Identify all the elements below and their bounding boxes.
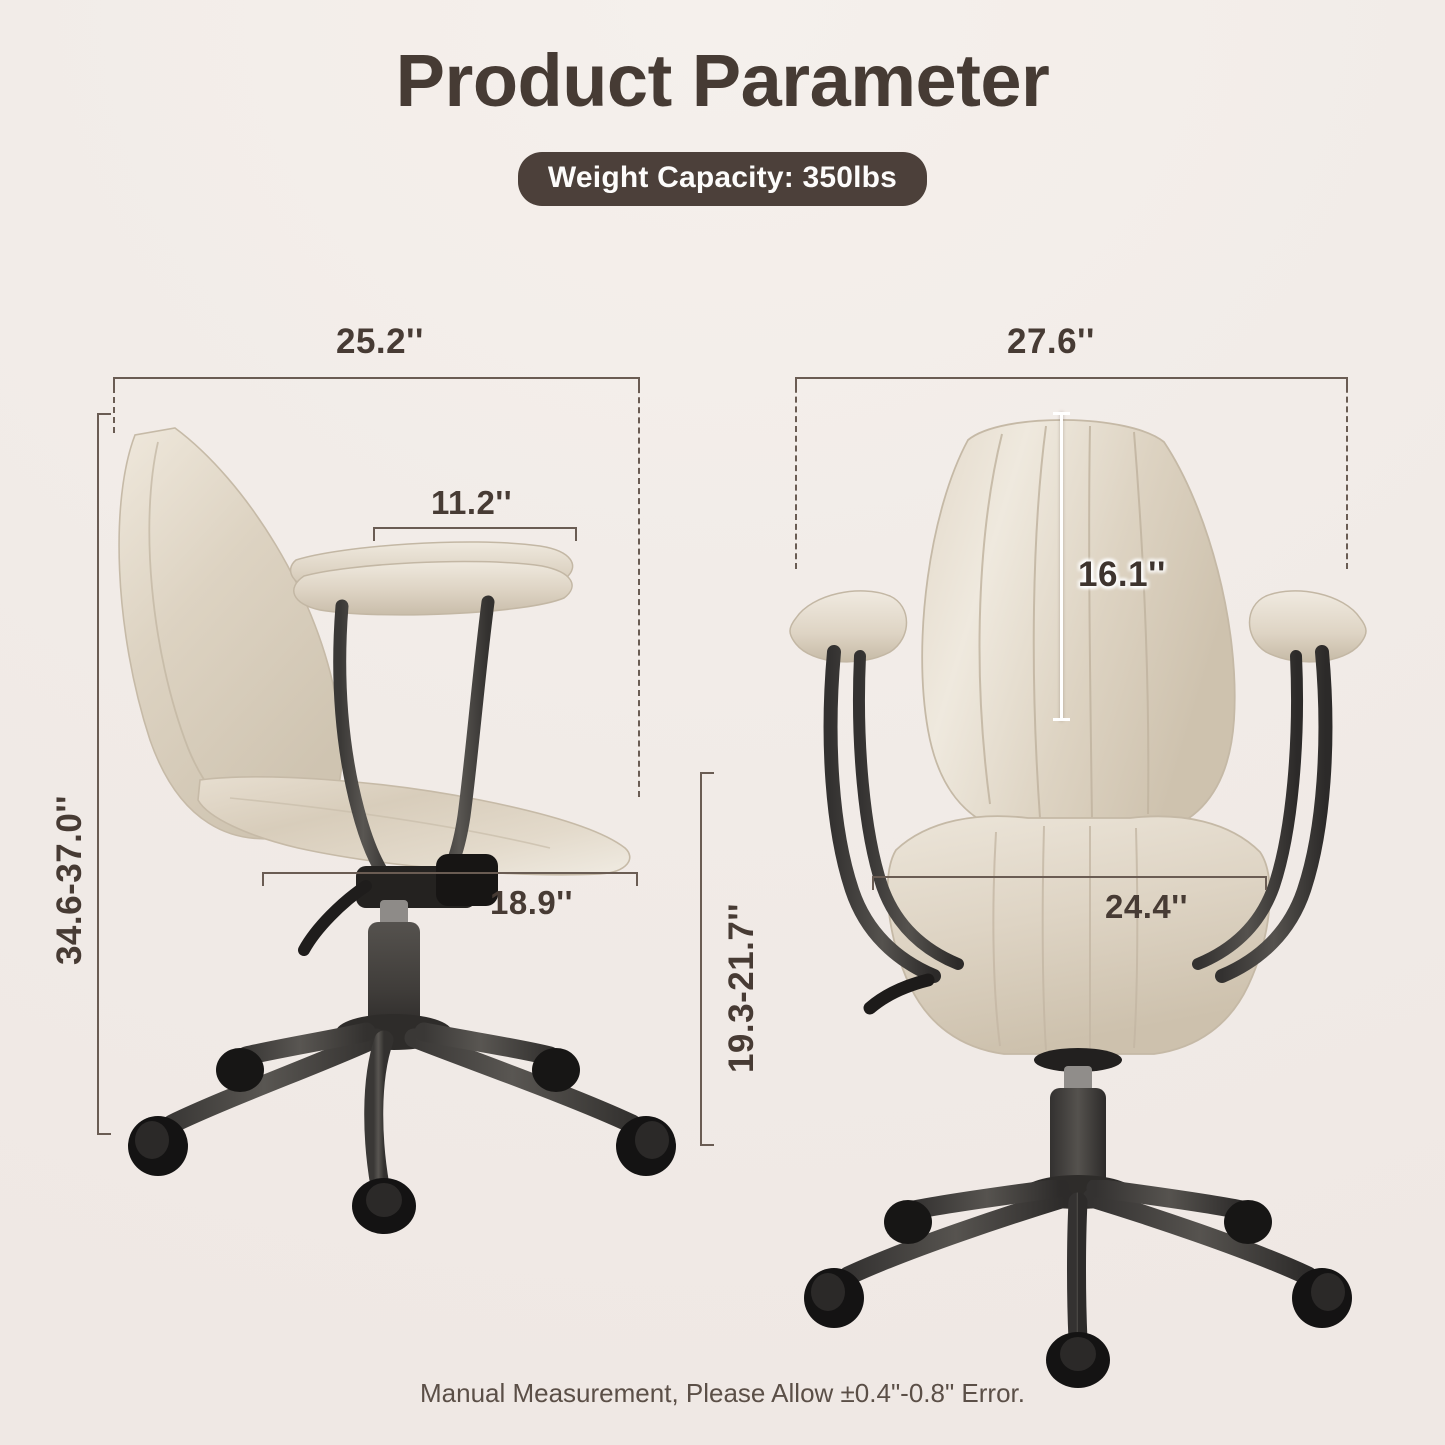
dim-label-front-overall-width: 27.6'' — [1007, 322, 1095, 362]
chair-front-view-illustration — [778, 380, 1378, 1260]
chair-front-view — [778, 380, 1378, 1260]
dim-line-side-seat-height — [700, 772, 702, 1146]
dim-guide-front-width-right — [1346, 377, 1348, 569]
dim-label-front-base-diameter: 24.4'' — [1105, 888, 1188, 926]
dim-line-front-base-diameter — [872, 876, 1267, 878]
dim-label-side-overall-height: 34.6-37.0'' — [50, 730, 90, 1030]
tilt-knob — [436, 854, 498, 906]
dim-line-side-overall-width — [113, 377, 640, 379]
dim-line-front-overall-width — [795, 377, 1348, 379]
seat-cushion — [198, 777, 630, 875]
backrest — [922, 420, 1235, 832]
casters — [128, 1048, 676, 1234]
armrest-left — [790, 591, 907, 662]
weight-capacity-badge-wrap: Weight Capacity: 350lbs — [0, 152, 1445, 206]
dim-line-front-backrest-height — [1060, 412, 1063, 721]
dim-guide-side-width-left — [113, 377, 115, 433]
dim-guide-side-width-right — [638, 377, 640, 797]
dim-label-front-backrest-height: 16.1'' — [1078, 555, 1166, 595]
page-title: Product Parameter — [0, 44, 1445, 118]
dim-line-side-base-width — [262, 872, 638, 874]
armrest-right — [1250, 591, 1367, 662]
dim-label-side-armrest-depth: 11.2'' — [431, 484, 512, 522]
chair-side-view — [80, 380, 720, 1260]
dim-line-side-overall-height — [97, 413, 99, 1135]
dim-label-side-base-width: 18.9'' — [490, 884, 573, 922]
seat-cushion — [888, 816, 1270, 1054]
product-parameter-diagram: Product Parameter Weight Capacity: 350lb… — [0, 0, 1445, 1445]
dim-label-side-overall-width: 25.2'' — [336, 322, 424, 362]
chair-side-view-illustration — [80, 380, 720, 1260]
dim-line-side-armrest-depth — [373, 527, 577, 529]
dim-label-side-seat-height: 19.3-21.7'' — [722, 838, 762, 1138]
height-adjust-lever — [304, 886, 366, 950]
measurement-note: Manual Measurement, Please Allow ±0.4"-0… — [0, 1378, 1445, 1409]
weight-capacity-badge: Weight Capacity: 350lbs — [518, 152, 927, 206]
dim-guide-front-width-left — [795, 377, 797, 569]
armrest — [291, 542, 573, 615]
